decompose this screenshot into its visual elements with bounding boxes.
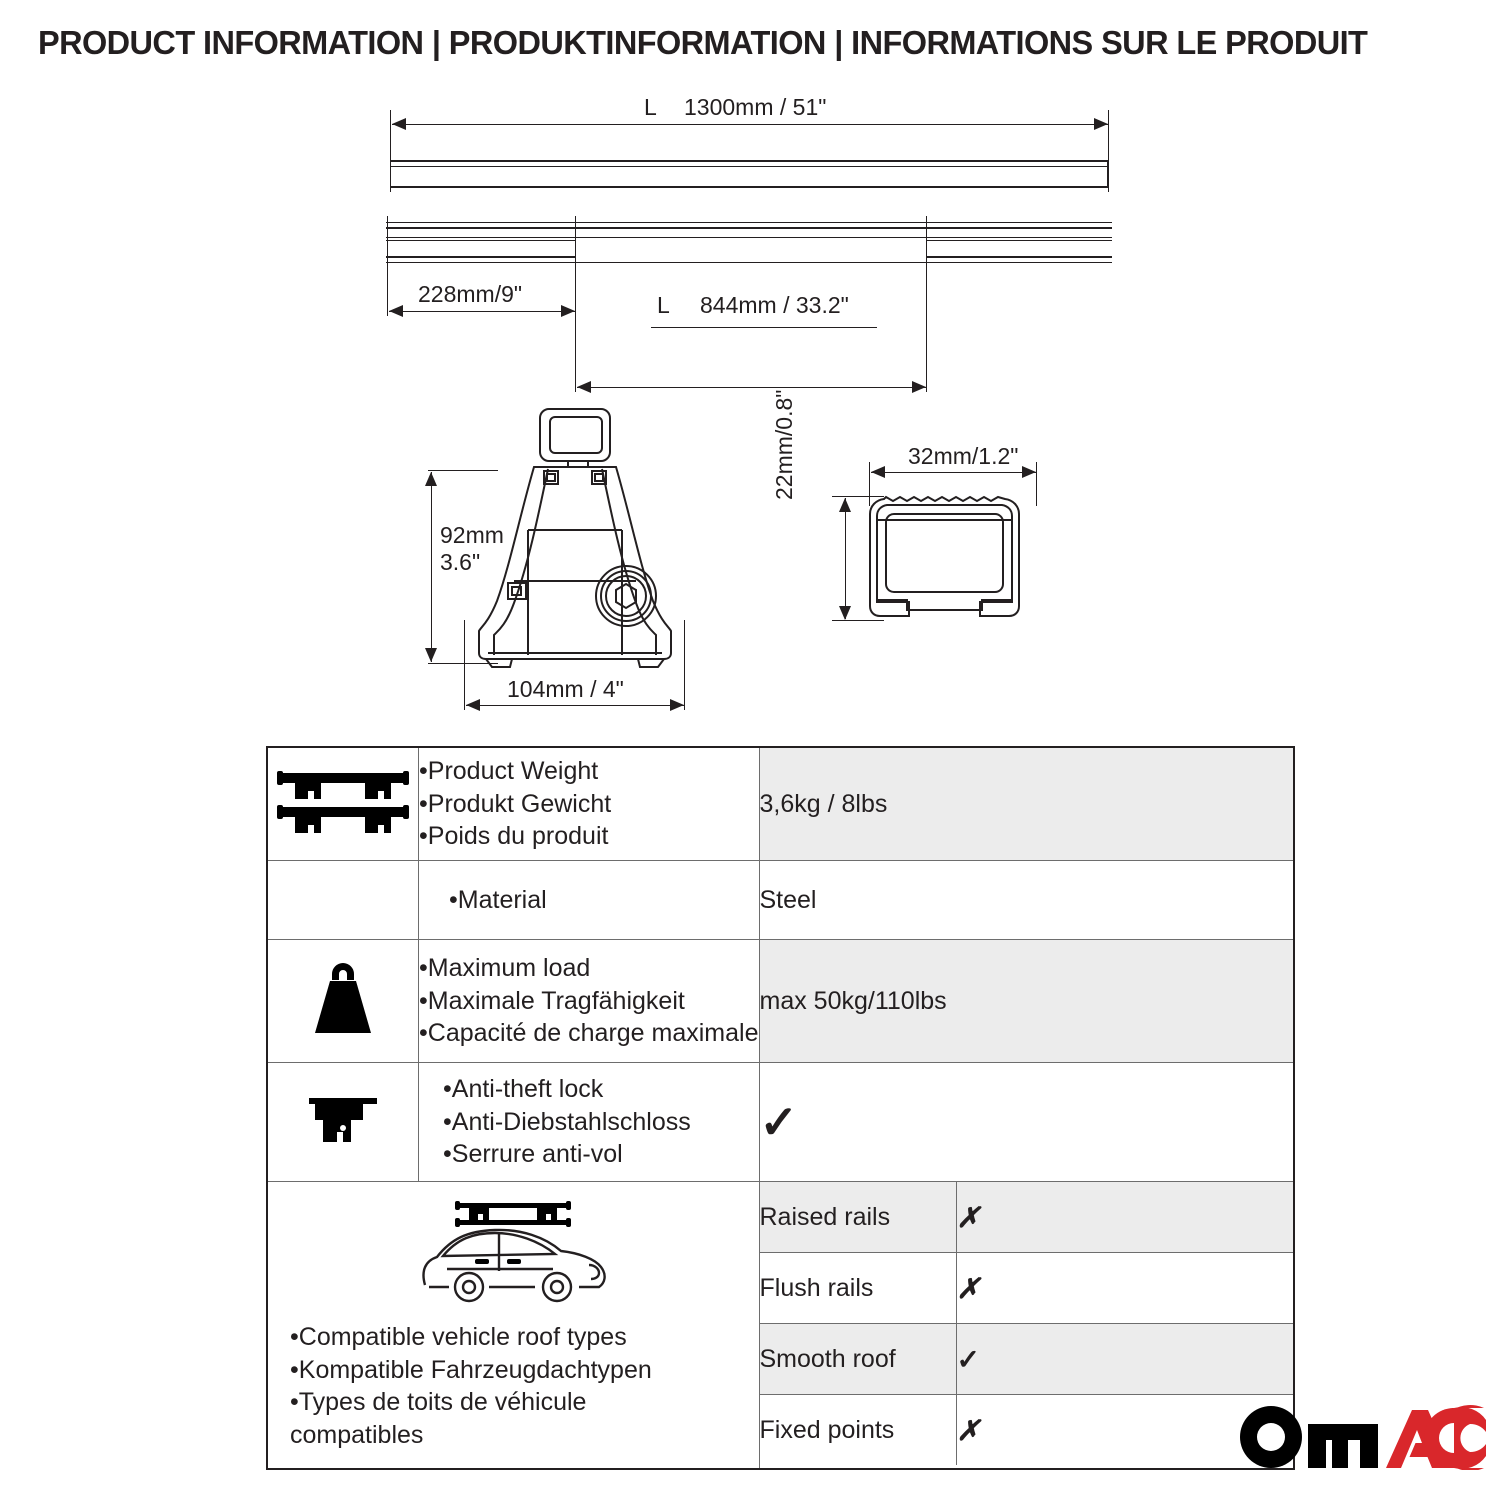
label-line: •Capacité de charge maximale	[419, 1017, 759, 1050]
roof-option-mark: ✗	[956, 1182, 1293, 1253]
cell-icon-product-weight	[267, 747, 419, 861]
topview-line-3	[386, 237, 1112, 238]
arrow-left-icon	[389, 305, 403, 317]
arrow-right-icon	[561, 305, 575, 317]
crossbars-icon	[269, 765, 417, 837]
ext-line-844-right	[926, 216, 927, 392]
topview-line-1	[386, 222, 1112, 223]
checkmark-icon: ✓	[957, 1344, 980, 1375]
bar-right-cap	[1107, 160, 1108, 188]
ext-line-right	[1108, 110, 1109, 192]
label-line: •Serrure anti-vol	[443, 1138, 759, 1171]
foot-left-bottom	[386, 256, 576, 258]
label-line: •Anti-theft lock	[443, 1073, 759, 1106]
label-line: •Material	[419, 884, 759, 917]
cell-roof-types-options: Raised rails ✗ Flush rails ✗ Smooth roof…	[759, 1182, 1294, 1470]
foot-right-top	[926, 240, 1112, 241]
arrow-down-icon	[839, 606, 851, 620]
arrow-left-icon	[466, 699, 480, 711]
table-row: •Anti-theft lock •Anti-Diebstahlschloss …	[267, 1063, 1294, 1182]
cell-icon-material	[267, 861, 419, 940]
cross-icon: ✗	[957, 1415, 980, 1446]
roof-option-row: Smooth roof ✓	[760, 1324, 1294, 1395]
label-line: •Kompatible Fahrzeugdachtypen	[290, 1354, 700, 1387]
bar-top-inner	[390, 166, 1108, 167]
bar-span-prefix: L	[657, 292, 670, 319]
bar-top-edge	[390, 160, 1108, 162]
cell-label-maximum-load: •Maximum load •Maximale Tragfähigkeit •C…	[419, 940, 760, 1063]
label-line: •Poids du produit	[419, 820, 759, 853]
roof-type-subtable: Raised rails ✗ Flush rails ✗ Smooth roof…	[760, 1182, 1294, 1465]
profile-height-value: 22mm/0.8"	[771, 370, 798, 500]
foot-right-bottom	[926, 256, 1112, 258]
arrow-up-icon	[839, 498, 851, 512]
arrow-left-icon	[392, 118, 406, 130]
arrow-up-icon	[425, 472, 437, 486]
cross-icon: ✗	[957, 1273, 980, 1304]
label-line: •Anti-Diebstahlschloss	[443, 1106, 759, 1139]
ext-line-104-left	[464, 620, 465, 710]
cell-value-maximum-load: max 50kg/110lbs	[759, 940, 1294, 1063]
foot-height-line1: 92mm	[440, 522, 504, 549]
cell-roof-types-label: •Compatible vehicle roof types •Kompatib…	[267, 1182, 759, 1470]
roof-option-row: Flush rails ✗	[760, 1253, 1294, 1324]
roof-option-name: Fixed points	[760, 1395, 957, 1466]
lock-icon	[305, 1092, 381, 1146]
cell-value-anti-theft-lock: ✓	[759, 1063, 1294, 1182]
arrow-left-icon	[577, 381, 591, 393]
dim-line	[392, 124, 1108, 125]
roof-option-name: Raised rails	[760, 1182, 957, 1253]
ext-line-92-bottom	[428, 663, 498, 664]
omac-logo	[1238, 1404, 1486, 1470]
foot-offset-value: 228mm/9"	[418, 281, 522, 308]
cell-label-anti-theft-lock: •Anti-theft lock •Anti-Diebstahlschloss …	[419, 1063, 760, 1182]
cell-value-material: Steel	[759, 861, 1294, 940]
cell-icon-maximum-load	[267, 940, 419, 1063]
arrow-right-icon	[912, 381, 926, 393]
arrow-right-icon	[1022, 466, 1036, 478]
roof-option-mark: ✓	[956, 1324, 1293, 1395]
label-line: •Types de toits de véhicule compatibles	[290, 1386, 700, 1451]
roof-option-row: Raised rails ✗	[760, 1182, 1294, 1253]
bar-length-prefix: L	[644, 94, 657, 121]
label-line: •Compatible vehicle roof types	[290, 1321, 700, 1354]
arrow-right-icon	[1094, 118, 1108, 130]
ext-line-844-left	[575, 216, 576, 392]
ext-line-104-right	[684, 620, 685, 710]
ext-line-92-top	[428, 470, 498, 471]
table-row: •Compatible vehicle roof types •Kompatib…	[267, 1182, 1294, 1470]
roof-option-mark: ✗	[956, 1253, 1293, 1324]
product-information-sheet: PRODUCT INFORMATION | PRODUKTINFORMATION…	[0, 0, 1500, 1500]
table-row: •Material Steel	[267, 861, 1294, 940]
bar-left-cap	[390, 160, 391, 188]
roof-option-name: Flush rails	[760, 1253, 957, 1324]
cell-icon-anti-theft-lock	[267, 1063, 419, 1182]
dim-line-844	[577, 387, 926, 388]
bar-length-value: 1300mm / 51"	[684, 94, 826, 121]
car-with-rack-icon	[403, 1199, 623, 1317]
arrow-right-icon	[670, 699, 684, 711]
arrow-down-icon	[425, 648, 437, 662]
roof-option-name: Smooth roof	[760, 1324, 957, 1395]
crossbar-cross-section-drawing	[862, 488, 1052, 628]
specification-table: •Product Weight •Produkt Gewicht •Poids …	[266, 746, 1295, 1470]
foot-left-top	[386, 240, 576, 241]
table-row: •Product Weight •Produkt Gewicht •Poids …	[267, 747, 1294, 861]
arrow-left-icon	[871, 466, 885, 478]
cell-label-material: •Material	[419, 861, 760, 940]
dim-line-22	[845, 498, 846, 619]
foot-width-value: 104mm / 4"	[507, 676, 624, 703]
ext-line-228-left	[387, 216, 388, 316]
weight-icon	[309, 959, 377, 1037]
cell-value-product-weight: 3,6kg / 8lbs	[759, 747, 1294, 861]
label-line: •Produkt Gewicht	[419, 788, 759, 821]
profile-width-value: 32mm/1.2"	[908, 443, 1018, 470]
cross-icon: ✗	[957, 1202, 980, 1233]
roof-option-row: Fixed points ✗	[760, 1395, 1294, 1466]
dim-line-104	[466, 705, 684, 706]
bar-span-value: 844mm / 33.2"	[700, 292, 849, 319]
table-row: •Maximum load •Maximale Tragfähigkeit •C…	[267, 940, 1294, 1063]
topview-line-4	[386, 262, 1112, 263]
bar-span-underline	[651, 327, 877, 328]
dim-line-32	[871, 472, 1036, 473]
checkmark-icon: ✓	[760, 1096, 799, 1148]
label-line: •Maximum load	[419, 952, 759, 985]
label-line: •Maximale Tragfähigkeit	[419, 985, 759, 1018]
dim-line-228	[389, 311, 575, 312]
foot-height-line2: 3.6"	[440, 549, 480, 576]
label-line: •Product Weight	[419, 755, 759, 788]
bar-bottom-edge	[390, 186, 1108, 188]
dim-line-92	[431, 472, 432, 662]
page-title: PRODUCT INFORMATION | PRODUKTINFORMATION…	[38, 24, 1367, 62]
topview-line-2	[386, 227, 1112, 229]
cell-label-product-weight: •Product Weight •Produkt Gewicht •Poids …	[419, 747, 760, 861]
